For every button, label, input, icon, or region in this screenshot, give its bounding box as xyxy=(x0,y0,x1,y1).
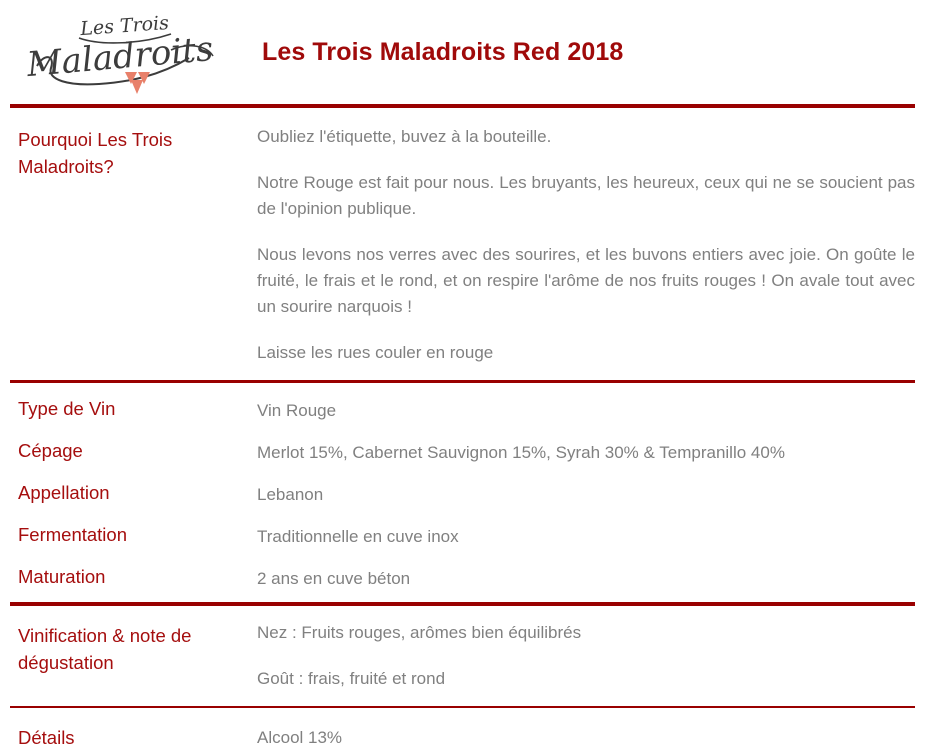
tasting-value: Nez : Fruits rouges, arômes bien équilib… xyxy=(257,620,915,692)
section-details: Détails Alcool 13% xyxy=(0,708,934,751)
attribute-value: 2 ans en cuve béton xyxy=(257,564,915,592)
attribute-label: Maturation xyxy=(18,564,257,590)
details-row: Détails Alcool 13% xyxy=(0,723,934,751)
story-label: Pourquoi Les Trois Maladroits? xyxy=(18,124,257,180)
story-row: Pourquoi Les Trois Maladroits? Oubliez l… xyxy=(0,124,934,366)
attribute-value: Traditionnelle en cuve inox xyxy=(257,522,915,550)
section-tasting: Vinification & note de dégustation Nez :… xyxy=(0,606,934,706)
attribute-row: Type de Vin Vin Rouge xyxy=(0,396,934,424)
tasting-row: Vinification & note de dégustation Nez :… xyxy=(0,620,934,692)
story-paragraph: Oubliez l'étiquette, buvez à la bouteill… xyxy=(257,124,915,150)
attribute-label: Type de Vin xyxy=(18,396,257,422)
story-value: Oubliez l'étiquette, buvez à la bouteill… xyxy=(257,124,915,366)
wine-tech-sheet: Les Trois Maladroits Les Trois Maladroit… xyxy=(0,0,934,722)
attribute-label: Fermentation xyxy=(18,522,257,548)
attribute-row: Cépage Merlot 15%, Cabernet Sauvignon 15… xyxy=(0,438,934,466)
details-value: Alcool 13% xyxy=(257,723,915,751)
tasting-line-palate: Goût : frais, fruité et rond xyxy=(257,666,915,692)
story-paragraph: Laisse les rues couler en rouge xyxy=(257,340,915,366)
section-attributes: Type de Vin Vin Rouge Cépage Merlot 15%,… xyxy=(0,383,934,602)
attribute-label: Appellation xyxy=(18,480,257,506)
attribute-value: Lebanon xyxy=(257,480,915,508)
les-trois-maladroits-logo: Les Trois Maladroits xyxy=(18,6,230,98)
section-story: Pourquoi Les Trois Maladroits? Oubliez l… xyxy=(0,108,934,380)
attribute-row: Maturation 2 ans en cuve béton xyxy=(0,564,934,592)
sheet-header: Les Trois Maladroits Les Trois Maladroit… xyxy=(0,0,934,104)
details-label: Détails xyxy=(18,723,257,751)
attribute-value: Vin Rouge xyxy=(257,396,915,424)
attribute-row: Fermentation Traditionnelle en cuve inox xyxy=(0,522,934,550)
attribute-value: Merlot 15%, Cabernet Sauvignon 15%, Syra… xyxy=(257,438,915,466)
story-paragraph: Nous levons nos verres avec des sourires… xyxy=(257,242,915,320)
page-title: Les Trois Maladroits Red 2018 xyxy=(262,38,623,67)
story-paragraph: Notre Rouge est fait pour nous. Les bruy… xyxy=(257,170,915,222)
tasting-label: Vinification & note de dégustation xyxy=(18,620,257,676)
attribute-label: Cépage xyxy=(18,438,257,464)
logo-artwork: Les Trois Maladroits xyxy=(21,6,227,98)
attribute-row: Appellation Lebanon xyxy=(0,480,934,508)
tasting-line-nose: Nez : Fruits rouges, arômes bien équilib… xyxy=(257,620,915,646)
